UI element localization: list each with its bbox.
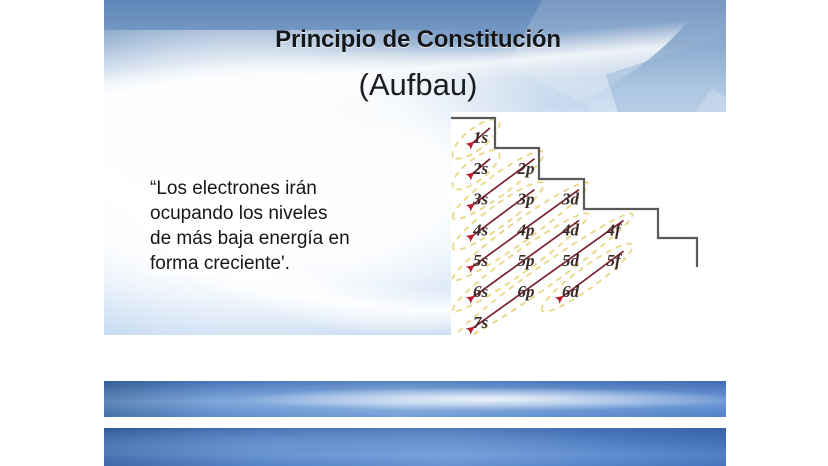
- quote-line-1: “Los electrones irán: [150, 178, 317, 199]
- orbital-label: 4p: [517, 220, 535, 239]
- orbital-label: 5f: [607, 251, 624, 270]
- diagonal-arrow: [469, 220, 624, 330]
- quote-line-3: de más baja energía en: [150, 228, 350, 249]
- orbital-label: 2s: [472, 159, 489, 178]
- orbital-label: 3p: [517, 190, 535, 209]
- orbital-label: 1s: [473, 128, 489, 147]
- orbital-label: 4f: [606, 220, 624, 239]
- aufbau-diagram-svg: 1s2s2p3s3p3d4s4p4d4f5s5p5d5f6s6p6d7s: [451, 112, 726, 335]
- slide-strip-background-1: [104, 381, 726, 417]
- orbital-label: 5s: [473, 251, 489, 270]
- orbital-label: 3s: [472, 190, 489, 209]
- slide-title: Principio de Constitución: [198, 27, 638, 53]
- orbital-label: 3d: [561, 190, 580, 209]
- orbital-label: 6d: [562, 282, 580, 301]
- orbital-label: 6p: [518, 282, 535, 301]
- aufbau-diagram-image: 1s2s2p3s3p3d4s4p4d4f5s5p5d5f6s6p6d7s: [451, 112, 726, 335]
- slide-viewer: Principio de Constitución (Aufbau) “Los …: [0, 0, 828, 466]
- quote-text: “Los electrones irán ocupando los nivele…: [150, 176, 400, 276]
- slide-subtitle: (Aufbau): [198, 66, 638, 105]
- slide-strip-next-1[interactable]: [104, 381, 726, 417]
- orbital-label: 4s: [472, 220, 489, 239]
- orbital-label: 5d: [562, 251, 580, 270]
- orbital-label: 4d: [561, 220, 580, 239]
- orbital-label: 7s: [473, 313, 489, 332]
- orbital-label: 2p: [517, 159, 535, 178]
- quote-line-4: forma creciente'.: [150, 253, 290, 274]
- orbital-label: 6s: [473, 282, 489, 301]
- slide-main[interactable]: Principio de Constitución (Aufbau) “Los …: [104, 0, 726, 335]
- slide-strip-background-2: [104, 428, 726, 466]
- quote-line-2: ocupando los niveles: [150, 203, 327, 224]
- slide-strip-next-2[interactable]: [104, 428, 726, 466]
- orbital-label: 5p: [518, 251, 535, 270]
